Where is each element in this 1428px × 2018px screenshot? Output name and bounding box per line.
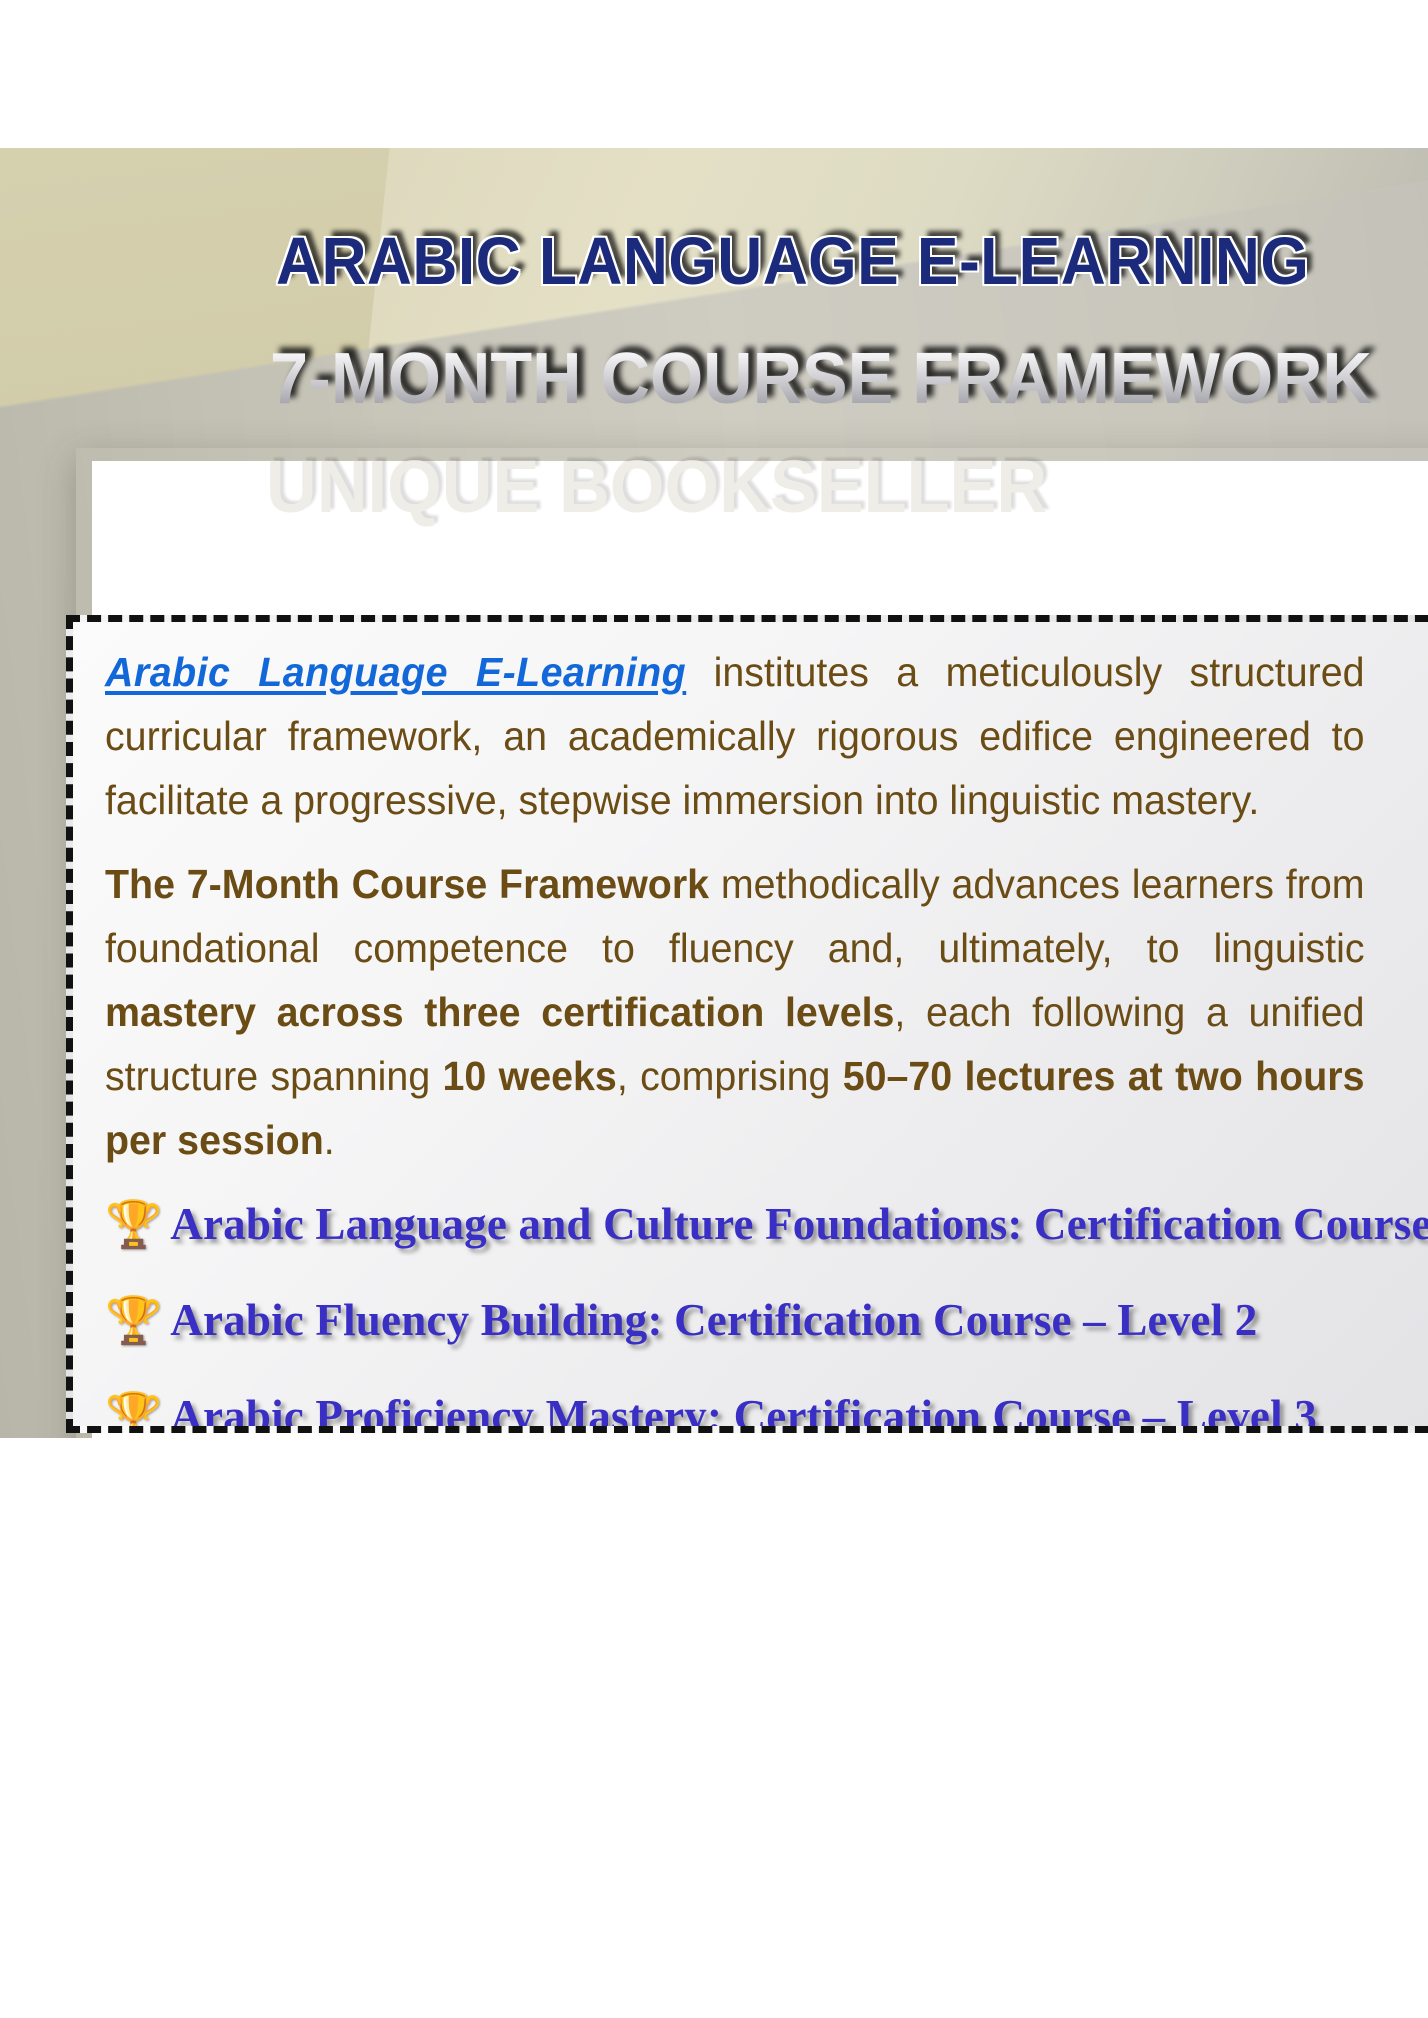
framework-paragraph: The 7-Month Course Framework methodicall… — [105, 852, 1365, 1172]
certification-level-1-label: Arabic Language and Culture Foundations:… — [170, 1198, 1428, 1250]
framework-text-4: . — [324, 1117, 335, 1163]
list-item[interactable]: 🏆 Arabic Proficiency Mastery: Certificat… — [105, 1390, 1417, 1433]
trophy-icon: 🏆 — [105, 1297, 162, 1343]
framework-bold-levels: mastery across three certification level… — [105, 989, 894, 1035]
framework-bold-weeks: 10 weeks — [443, 1053, 617, 1099]
presentation-slide: ARABIC LANGUAGE E-LEARNING 7-MONTH COURS… — [0, 148, 1428, 1438]
framework-text-3: , comprising — [617, 1053, 843, 1099]
list-item[interactable]: 🏆 Arabic Language and Culture Foundation… — [105, 1198, 1417, 1250]
slide-title-secondary: 7-MONTH COURSE FRAMEWORK — [270, 338, 1372, 420]
framework-bold-lead: The 7-Month Course Framework — [105, 861, 709, 907]
content-panel: Arabic Language E-Learning institutes a … — [66, 615, 1428, 1433]
slide-title-tertiary: UNIQUE BOOKSELLER — [266, 444, 1047, 529]
trophy-icon: 🏆 — [105, 1201, 162, 1247]
certification-list: 🏆 Arabic Language and Culture Foundation… — [105, 1198, 1417, 1433]
slide-title-primary: ARABIC LANGUAGE E-LEARNING — [276, 223, 1309, 300]
trophy-icon: 🏆 — [105, 1393, 162, 1433]
intro-paragraph: Arabic Language E-Learning institutes a … — [105, 640, 1365, 832]
list-item[interactable]: 🏆 Arabic Fluency Building: Certification… — [105, 1294, 1417, 1346]
slide-stage: ARABIC LANGUAGE E-LEARNING 7-MONTH COURS… — [0, 0, 1428, 2018]
certification-level-2-label: Arabic Fluency Building: Certification C… — [170, 1294, 1257, 1346]
certification-level-3-label: Arabic Proficiency Mastery: Certificatio… — [170, 1390, 1317, 1433]
brand-link[interactable]: Arabic Language E-Learning — [105, 649, 686, 695]
